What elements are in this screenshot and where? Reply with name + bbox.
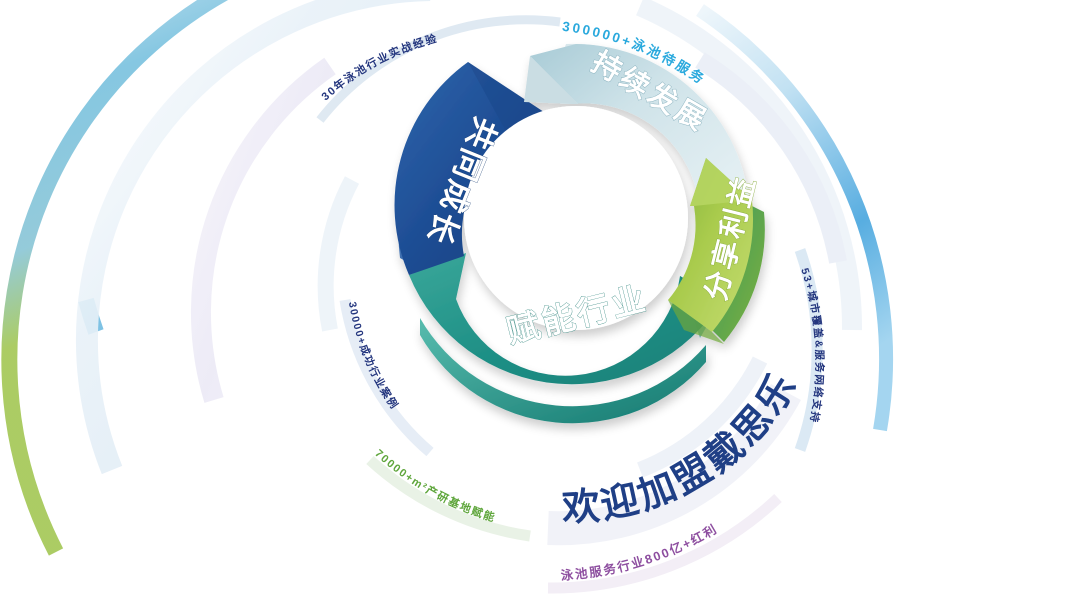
ring-third [201, 66, 330, 400]
poster-artwork: 共同成长 持续发展 分享利益 赋能行业 30年泳池行业实战经验 300000+泳… [0, 0, 1080, 608]
ring-outer-left [9, 0, 300, 552]
label-base: 70000+m²产研基地赋能 [372, 448, 497, 525]
poster-canvas: 共同成长 持续发展 分享利益 赋能行业 30年泳池行业实战经验 300000+泳… [0, 0, 1080, 608]
